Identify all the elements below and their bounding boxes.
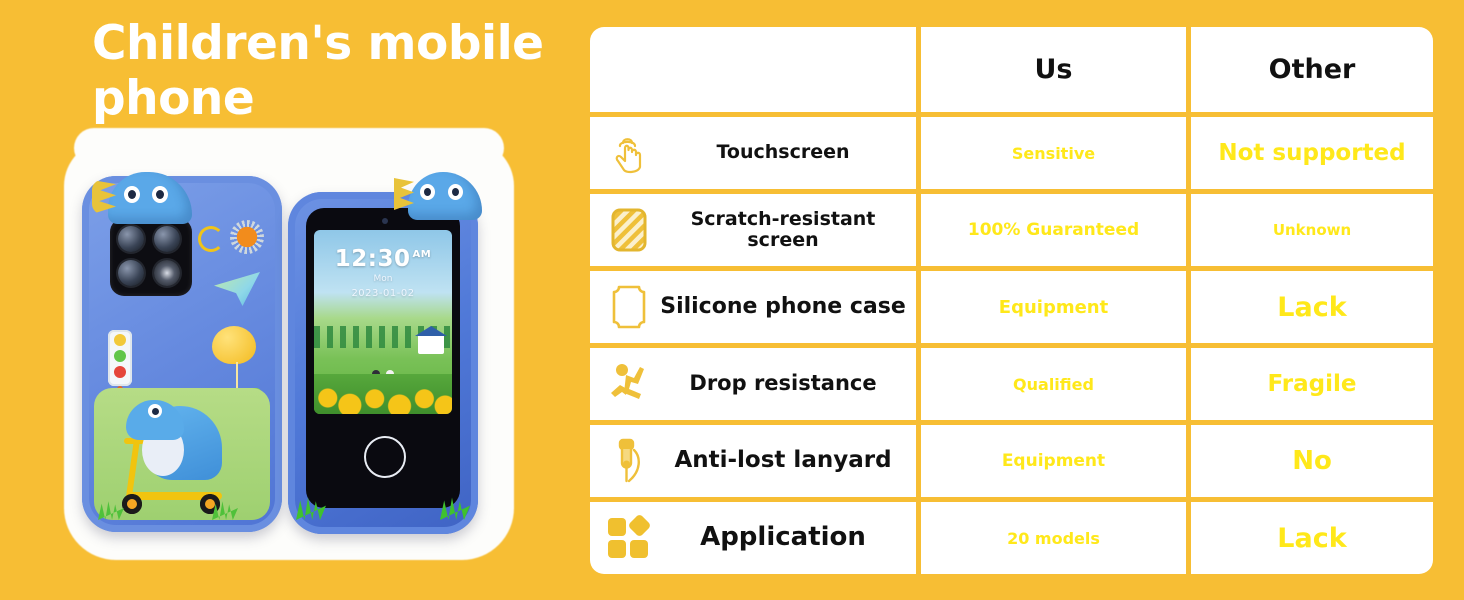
- feature-label: Touchscreen: [660, 142, 916, 163]
- wallpaper-sunflowers: [314, 374, 452, 414]
- dinosaur-eye-icon: [420, 184, 435, 200]
- header-us-label: Us: [1035, 54, 1073, 85]
- page-title: Children's mobile phone: [92, 16, 572, 126]
- balloon-decal-icon: [212, 326, 256, 364]
- us-value-cell: Sensitive: [921, 117, 1186, 189]
- dinosaur-eye-icon: [448, 184, 463, 200]
- other-value-cell: Lack: [1191, 502, 1433, 574]
- camera-lens-icon: [154, 226, 180, 252]
- us-value: Sensitive: [1012, 144, 1095, 163]
- traffic-lamp: [114, 334, 126, 346]
- us-value: 100% Guaranteed: [968, 220, 1139, 240]
- header-cell-other: Other: [1191, 27, 1433, 112]
- us-value-cell: 20 models: [921, 502, 1186, 574]
- camera-lens-icon: [118, 226, 144, 252]
- comparison-table: Us Other Touchscreen Sensitive Not suppo…: [590, 27, 1438, 572]
- us-value-cell: Equipment: [921, 425, 1186, 497]
- header-cell-feature: [590, 27, 916, 112]
- scooter-wheel-decal: [122, 494, 142, 514]
- front-camera-icon: [382, 218, 388, 224]
- dinosaur-eye-icon: [148, 404, 162, 418]
- phone-front-view: 12:30AM Mon 2023-01-02: [288, 192, 478, 534]
- feature-cell: Silicone phone case: [590, 271, 916, 343]
- phone-screen: 12:30AM Mon 2023-01-02: [306, 208, 460, 508]
- app-grid-icon: [598, 510, 660, 566]
- paper-plane-decal-icon: [214, 272, 260, 306]
- feature-label: Application: [660, 523, 916, 552]
- feature-label: Drop resistance: [660, 372, 916, 396]
- wallpaper-house: [418, 334, 444, 354]
- product-panel: Children's mobile phone: [0, 0, 580, 600]
- feature-cell: Touchscreen: [590, 117, 916, 189]
- clock-ampm: AM: [413, 249, 432, 260]
- screen-clock-time: 12:30AM: [314, 246, 452, 272]
- spiral-decal-icon: [198, 226, 224, 252]
- feature-cell: Application: [590, 502, 916, 574]
- silicone-case-icon: [598, 279, 660, 335]
- camera-flash-icon: [154, 260, 180, 286]
- lanyard-icon: [598, 433, 660, 489]
- other-value-cell: No: [1191, 425, 1433, 497]
- traffic-light-decal-icon: [108, 330, 132, 386]
- table-row: Drop resistance Qualified Fragile: [590, 348, 1438, 420]
- home-button[interactable]: [364, 436, 406, 478]
- table-row: Silicone phone case Equipment Lack: [590, 271, 1438, 343]
- table-row: Anti-lost lanyard Equipment No: [590, 425, 1438, 497]
- screen-clock-weekday: Mon: [314, 274, 452, 284]
- header-cell-us: Us: [921, 27, 1186, 112]
- feature-cell: Drop resistance: [590, 348, 916, 420]
- us-value: Equipment: [999, 297, 1108, 318]
- dinosaur-eye-icon: [152, 186, 168, 203]
- table-row: Application 20 models Lack: [590, 502, 1438, 574]
- other-value-cell: Unknown: [1191, 194, 1433, 266]
- falling-person-icon: [598, 356, 660, 412]
- us-value-cell: Equipment: [921, 271, 1186, 343]
- us-value: Qualified: [1013, 375, 1094, 394]
- us-value-cell: 100% Guaranteed: [921, 194, 1186, 266]
- feature-label: Silicone phone case: [660, 295, 916, 320]
- table-header-row: Us Other: [590, 27, 1438, 112]
- other-value-cell: Lack: [1191, 271, 1433, 343]
- feature-cell: Scratch-resistant screen: [590, 194, 916, 266]
- feature-label: Scratch-resistant screen: [660, 209, 916, 252]
- us-value-cell: Qualified: [921, 348, 1186, 420]
- other-value: Fragile: [1268, 371, 1357, 397]
- other-value-cell: Not supported: [1191, 117, 1433, 189]
- scratch-resistant-screen-icon: [598, 202, 660, 258]
- screen-clock-date: 2023-01-02: [314, 288, 452, 299]
- us-value: 20 models: [1007, 529, 1100, 548]
- feature-cell: Anti-lost lanyard: [590, 425, 916, 497]
- screen-wallpaper: 12:30AM Mon 2023-01-02: [314, 230, 452, 414]
- table-row: Touchscreen Sensitive Not supported: [590, 117, 1438, 189]
- table-row: Scratch-resistant screen 100% Guaranteed…: [590, 194, 1438, 266]
- other-value: Unknown: [1273, 221, 1351, 239]
- other-value: Not supported: [1218, 140, 1405, 166]
- sun-decal-icon: [230, 220, 264, 254]
- phone-back-view: [82, 176, 282, 532]
- touch-hand-icon: [598, 125, 660, 181]
- other-value: Lack: [1277, 292, 1346, 323]
- other-value-cell: Fragile: [1191, 348, 1433, 420]
- traffic-lamp: [114, 366, 126, 378]
- header-other-label: Other: [1269, 54, 1356, 85]
- other-value: Lack: [1277, 523, 1346, 554]
- clock-time-value: 12:30: [335, 246, 411, 272]
- dinosaur-eye-icon: [124, 186, 140, 203]
- camera-lens-icon: [118, 260, 144, 286]
- camera-module: [110, 218, 192, 296]
- feature-label: Anti-lost lanyard: [660, 448, 916, 474]
- other-value: No: [1292, 446, 1332, 476]
- us-value: Equipment: [1002, 451, 1105, 471]
- traffic-lamp: [114, 350, 126, 362]
